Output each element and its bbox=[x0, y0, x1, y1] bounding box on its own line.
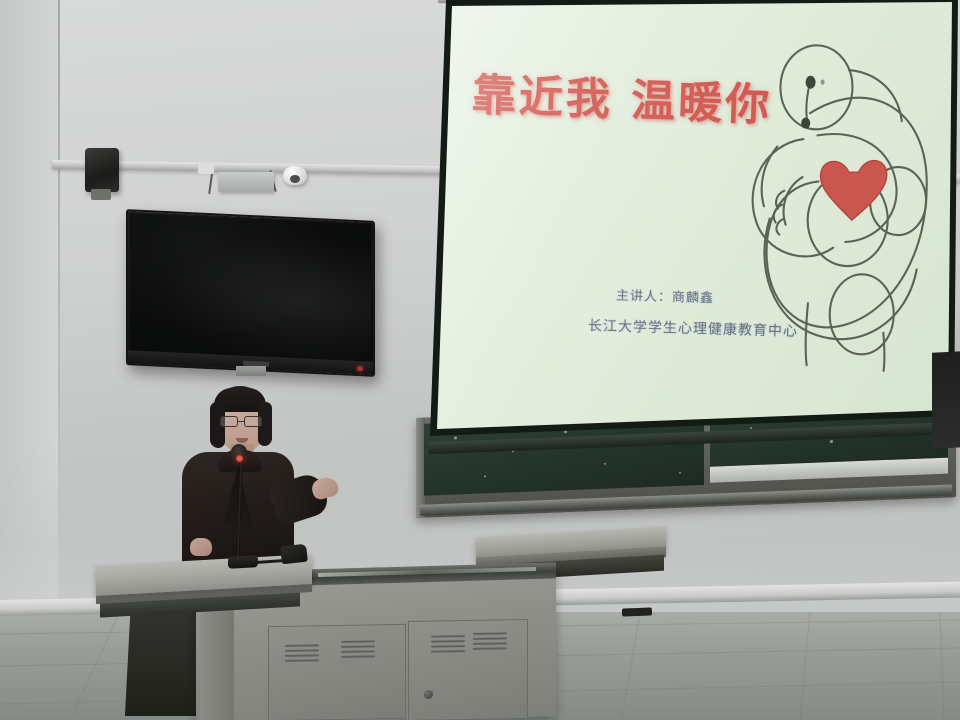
projection-screen: 靠近我 温暖你 主讲人：商麟鑫 长江大学学生心理健康教育中心 bbox=[420, 0, 958, 436]
left-hand bbox=[190, 538, 212, 556]
display-mount bbox=[236, 366, 266, 376]
wall-mounted-display[interactable] bbox=[126, 209, 375, 377]
podium-shadow bbox=[125, 598, 207, 716]
lecturer bbox=[160, 386, 340, 576]
podium-door-right[interactable] bbox=[408, 619, 528, 720]
floor-object bbox=[622, 607, 652, 616]
wall-speaker-icon bbox=[85, 148, 119, 192]
microphone-indicator-led bbox=[236, 455, 243, 462]
right-dark-panel bbox=[932, 351, 960, 449]
slide-title: 靠近我 温暖你 bbox=[471, 59, 773, 133]
classroom-photo-scene: 靠近我 温暖你 主讲人：商麟鑫 长江大学学生心理健康教育中心 bbox=[0, 0, 960, 720]
display-screen bbox=[130, 213, 371, 361]
junction-box-small bbox=[198, 163, 214, 174]
glasses-icon bbox=[220, 416, 264, 427]
junction-box bbox=[218, 172, 274, 192]
microphone-base bbox=[228, 555, 258, 569]
dome-camera-icon bbox=[283, 166, 307, 185]
podium-door-left[interactable] bbox=[268, 624, 406, 720]
slide-subtitle-presenter: 主讲人：商麟鑫 bbox=[616, 285, 715, 307]
podium-door-knob[interactable] bbox=[424, 690, 433, 699]
power-led-icon bbox=[357, 366, 363, 371]
presentation-slide: 靠近我 温暖你 主讲人：商麟鑫 长江大学学生心理健康教育中心 bbox=[420, 0, 958, 436]
desk-device[interactable] bbox=[280, 544, 308, 565]
